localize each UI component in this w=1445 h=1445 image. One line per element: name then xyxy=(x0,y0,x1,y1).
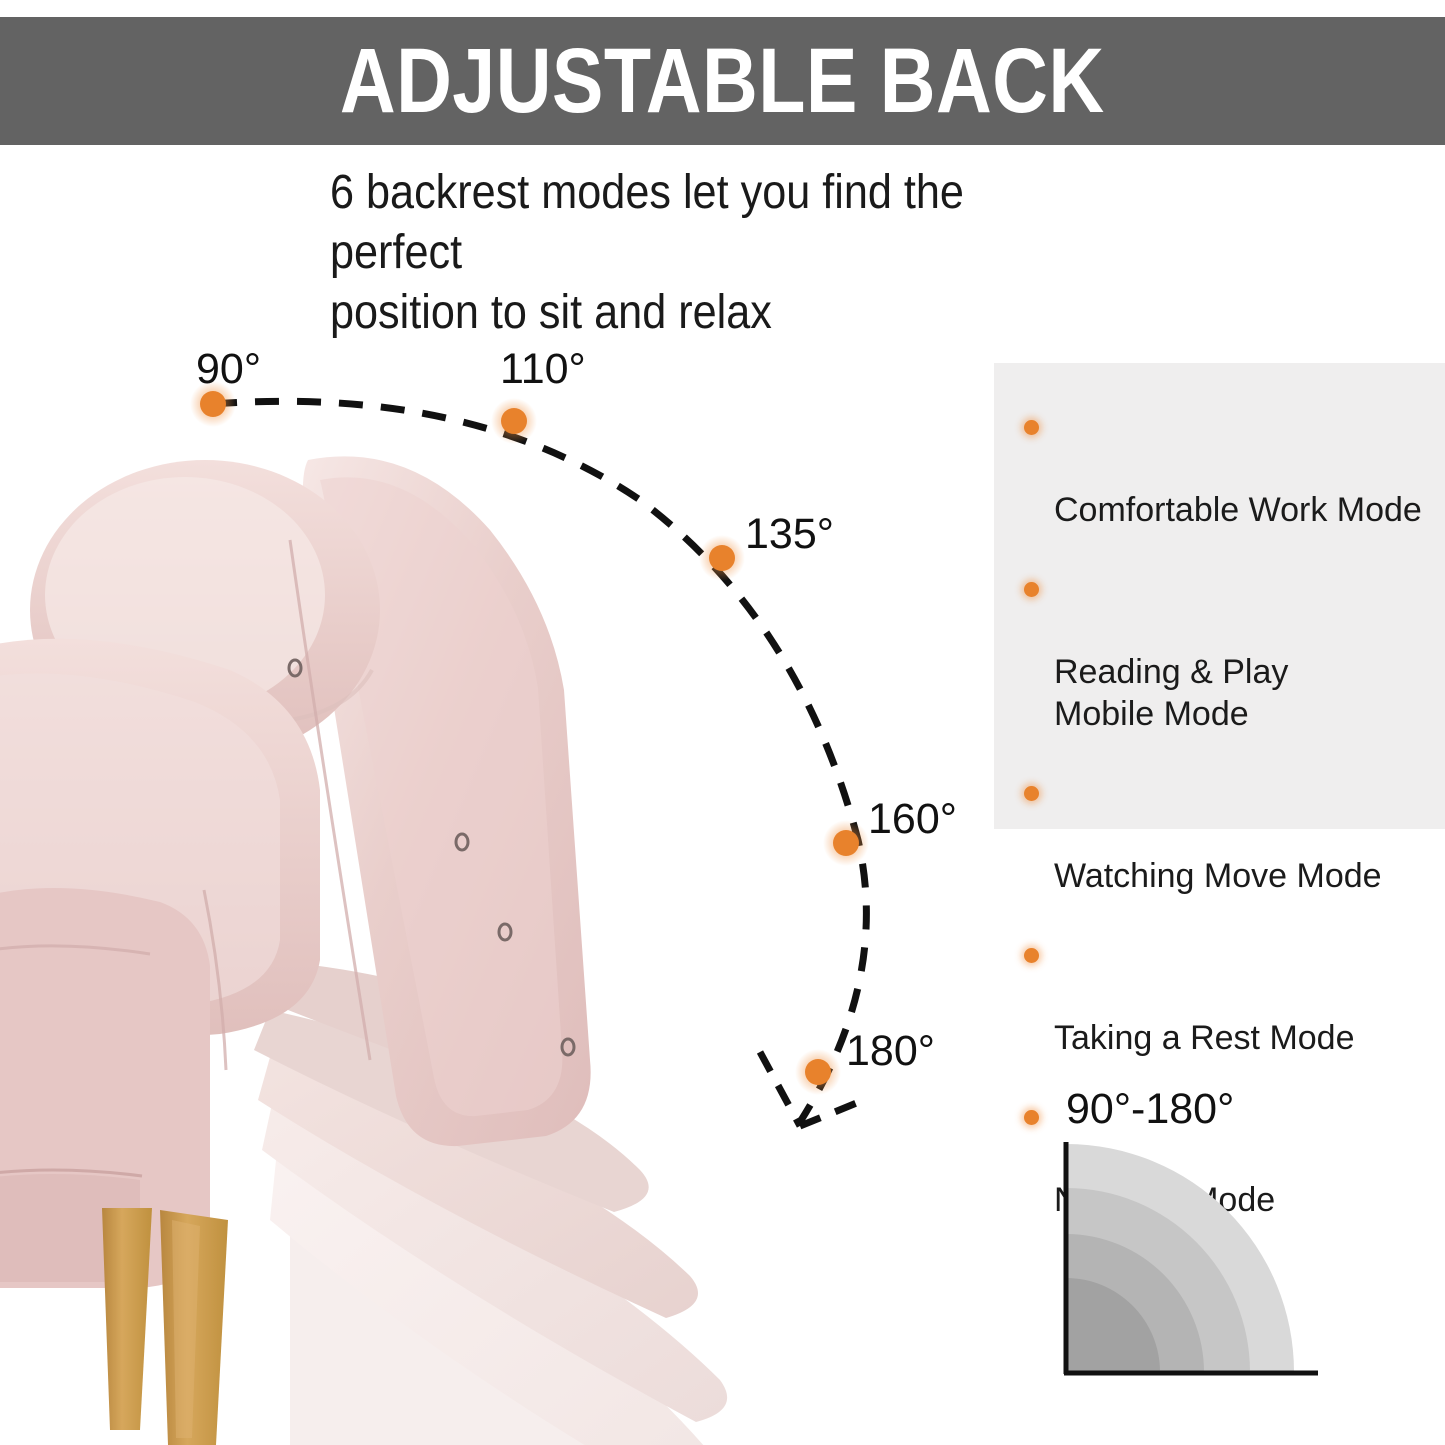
bullet-dot-icon xyxy=(1024,420,1039,435)
bullet-dot-icon xyxy=(1024,786,1039,801)
angle-dot-180 xyxy=(795,1049,841,1095)
angle-label-160: 160° xyxy=(868,798,957,841)
infographic-canvas: ADJUSTABLE BACK 6 backrest modes let you… xyxy=(0,0,1445,1445)
angle-label-90: 90° xyxy=(196,348,261,391)
product-illustration xyxy=(0,420,780,1445)
angle-label-110: 110° xyxy=(500,348,586,391)
bullet-dot-icon xyxy=(1024,1110,1039,1125)
range-diagram: 90°-180° xyxy=(1060,1088,1335,1378)
range-label: 90°-180° xyxy=(1066,1088,1234,1131)
range-quarter-circle xyxy=(1060,1138,1335,1378)
header-banner: ADJUSTABLE BACK xyxy=(0,17,1445,145)
mode-label: Comfortable Work Mode xyxy=(1054,491,1422,529)
mode-label: Taking a Rest Mode xyxy=(1054,1019,1355,1057)
angle-label-135: 135° xyxy=(745,513,834,556)
modes-legend-panel: Comfortable Work Mode Reading & Play Mob… xyxy=(994,363,1445,829)
list-item: Taking a Rest Mode xyxy=(1014,933,1427,1059)
arrow-head-2 xyxy=(800,1100,864,1126)
mode-label: Reading & Play Mobile Mode xyxy=(1054,653,1288,733)
page-title: ADJUSTABLE BACK xyxy=(340,35,1105,127)
list-item: Reading & Play Mobile Mode xyxy=(1014,567,1427,735)
list-item: Comfortable Work Mode xyxy=(1014,405,1427,531)
subtitle-text: 6 backrest modes let you find the perfec… xyxy=(330,163,1086,343)
mode-label: Watching Move Mode xyxy=(1054,857,1382,895)
angle-dot-160 xyxy=(823,820,869,866)
angle-label-180: 180° xyxy=(846,1030,935,1073)
bullet-dot-icon xyxy=(1024,582,1039,597)
bullet-dot-icon xyxy=(1024,948,1039,963)
list-item: Watching Move Mode xyxy=(1014,771,1427,897)
wooden-legs xyxy=(102,1208,228,1445)
